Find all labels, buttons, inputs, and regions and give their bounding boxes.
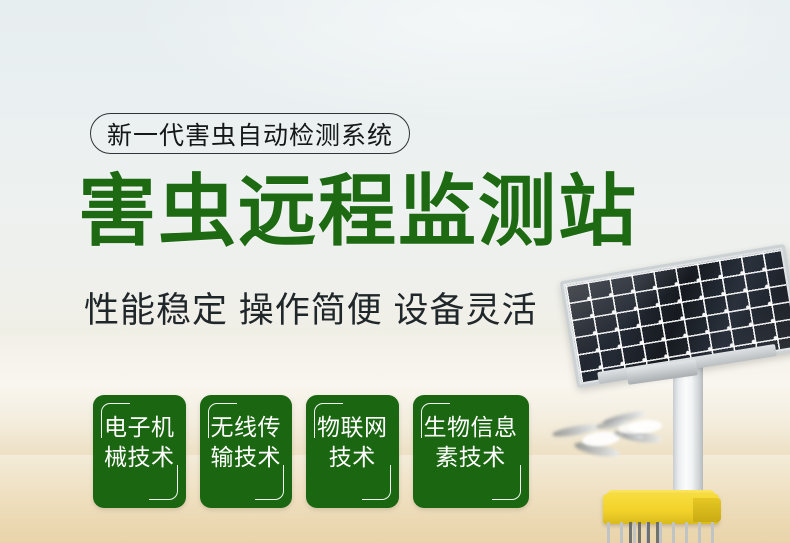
- page-title: 害虫远程监测站: [78, 172, 638, 250]
- feature-chip-list: 电子机 械技术 无线传 输技术 物联网 技术 生物信息 素技术: [93, 395, 529, 508]
- promo-banner: 新一代害虫自动检测系统 害虫远程监测站 性能稳定 操作简便 设备灵活 电子机 械…: [0, 0, 790, 543]
- feature-chip-biological-pheromone: 生物信息 素技术: [413, 395, 529, 508]
- trap-housing-lid: [607, 490, 715, 502]
- metal-rods-shadowed: [629, 522, 659, 543]
- tagline-badge: 新一代害虫自动检测系统: [90, 113, 410, 154]
- solar-panel: [560, 244, 790, 388]
- pole-cap: [672, 268, 704, 278]
- bird-icon: [596, 415, 656, 445]
- feature-chip-label: 无线传 输技术: [211, 412, 282, 473]
- support-pole: [673, 272, 703, 512]
- feature-chip-label: 生物信息 素技术: [424, 412, 518, 473]
- mounting-bracket: [597, 344, 777, 384]
- product-image-solar-monitoring-station: [555, 250, 790, 543]
- solar-cell-grid: [565, 250, 790, 383]
- feature-chip-electromechanical: 电子机 械技术: [93, 395, 186, 508]
- bird-icon: [600, 410, 680, 456]
- trap-housing-side-panel: [693, 498, 721, 522]
- yellow-trap-housing: [603, 494, 719, 524]
- feature-chip-label: 物联网 技术: [317, 412, 388, 473]
- bird-icon: [548, 418, 638, 466]
- solar-panel-gloss: [563, 247, 790, 384]
- subtitle: 性能稳定 操作简便 设备灵活: [84, 282, 537, 333]
- feature-chip-iot: 物联网 技术: [306, 395, 399, 508]
- metal-rods: [607, 522, 717, 543]
- bracket-hinge-box: [626, 359, 698, 385]
- feature-chip-label: 电子机 械技术: [104, 412, 175, 473]
- feature-chip-wireless-transmission: 无线传 输技术: [200, 395, 293, 508]
- solar-cell-contacts: [565, 250, 790, 383]
